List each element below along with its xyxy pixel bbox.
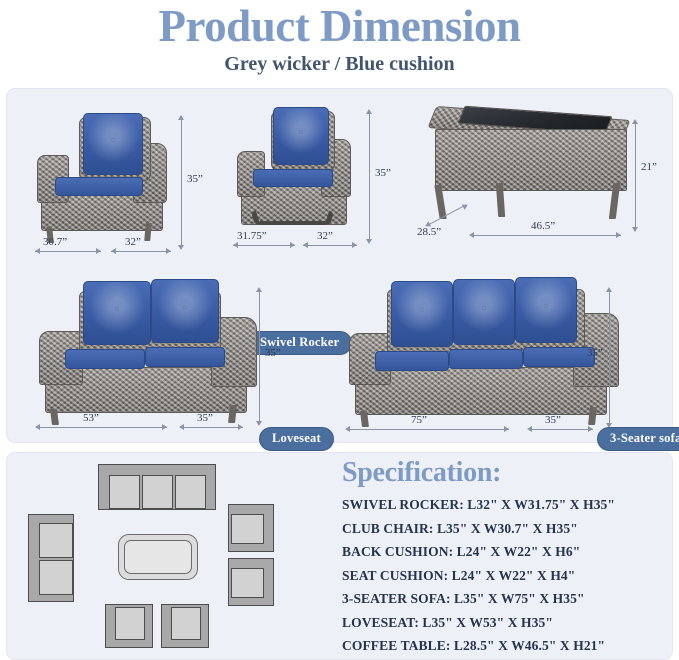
- coffee-table-depth-line: [427, 204, 466, 226]
- club-chair-height-line: [181, 119, 182, 245]
- layout-chair-bottom-right: [161, 604, 209, 648]
- three-seater-sofa-width-line: [347, 429, 509, 430]
- swivel-rocker-height-line: [369, 113, 370, 239]
- loveseat-height-label: 35”: [265, 347, 281, 359]
- loveseat-badge[interactable]: Loveseat: [259, 427, 334, 451]
- club-chair-depth-label: 32”: [125, 236, 141, 248]
- three-seater-sofa-width-label: 75”: [411, 414, 427, 426]
- swivel-rocker-depth-line: [303, 245, 357, 246]
- layout-sofa-3-seat-top: [98, 464, 216, 510]
- club-chair-height-label: 35”: [187, 173, 203, 185]
- club-chair-width-line: [35, 251, 101, 252]
- product-club-chair: 30.7” 32” 35”: [21, 99, 221, 259]
- loveseat-width-label: 53”: [83, 412, 99, 424]
- layout-coffee-table-center: [118, 534, 198, 580]
- three-seater-sofa-height-label: 35”: [587, 347, 603, 359]
- coffee-table-width-line: [471, 235, 621, 236]
- layout-chair-right-lower: [228, 558, 274, 606]
- layout-diagram: [22, 458, 330, 654]
- product-loveseat: 53” 35” 35”: [21, 269, 321, 434]
- product-coffee-table: 28.5” 46.5” 21”: [411, 99, 661, 259]
- spec-line-back-cushion: BACK CUSHION: L24" X W22" X H6": [342, 540, 676, 564]
- loveseat-depth-label: 35”: [197, 412, 213, 424]
- coffee-table-depth-label: 28.5”: [417, 226, 441, 238]
- three-seater-sofa-badge[interactable]: 3-Seater sofa: [597, 427, 679, 451]
- page-header: Product Dimension Grey wicker / Blue cus…: [0, 0, 679, 76]
- coffee-table-height-line: [635, 123, 636, 227]
- club-chair-depth-line: [111, 251, 171, 252]
- spec-line-seat-cushion: SEAT CUSHION: L24" X W22" X H4": [342, 564, 676, 588]
- coffee-table-height-label: 21”: [641, 161, 657, 173]
- specification-section: Specification: SWIVEL ROCKER: L32" X W31…: [342, 458, 676, 658]
- three-seater-sofa-height-line: [609, 291, 610, 423]
- coffee-table-width-label: 46.5”: [531, 220, 555, 232]
- swivel-rocker-height-label: 35”: [375, 167, 391, 179]
- loveseat-height-line: [259, 291, 260, 421]
- three-seater-sofa-label-row: 3-Seater sofa: [597, 427, 679, 451]
- swivel-rocker-depth-label: 32”: [317, 230, 333, 242]
- layout-chair-bottom-left: [105, 604, 153, 648]
- spec-line-coffee-table: COFFEE TABLE: L28.5" X W46.5" X H21": [342, 634, 676, 658]
- spec-line-loveseat: LOVESEAT: L35" X W53" X H35": [342, 611, 676, 635]
- products-panel: 30.7” 32” 35” Club Chair X 2 31.75”: [6, 88, 673, 443]
- loveseat-depth-line: [181, 427, 243, 428]
- product-swivel-rocker: 31.75” 32” 35”: [229, 99, 409, 259]
- three-seater-sofa-depth-label: 35”: [545, 414, 561, 426]
- swivel-rocker-width-label: 31.75”: [237, 230, 267, 242]
- specification-heading: Specification:: [342, 458, 676, 488]
- spec-line-swivel-rocker: SWIVEL ROCKER: L32" X W31.75" X H35": [342, 493, 676, 517]
- spec-line-three-seater-sofa: 3-SEATER SOFA: L35" X W75" X H35": [342, 587, 676, 611]
- three-seater-sofa-depth-line: [529, 429, 593, 430]
- page-subtitle: Grey wicker / Blue cushion: [0, 52, 679, 76]
- swivel-rocker-width-line: [233, 245, 295, 246]
- club-chair-width-label: 30.7”: [43, 236, 67, 248]
- spec-line-club-chair: CLUB CHAIR: L35" X W30.7" X H35": [342, 517, 676, 541]
- page-title: Product Dimension: [0, 2, 679, 50]
- loveseat-label-row: Loveseat: [259, 427, 334, 451]
- product-three-seater-sofa: 75” 35” 35”: [337, 269, 637, 434]
- layout-chair-right-upper: [228, 504, 274, 552]
- layout-loveseat-left: [28, 514, 74, 602]
- loveseat-width-line: [37, 427, 167, 428]
